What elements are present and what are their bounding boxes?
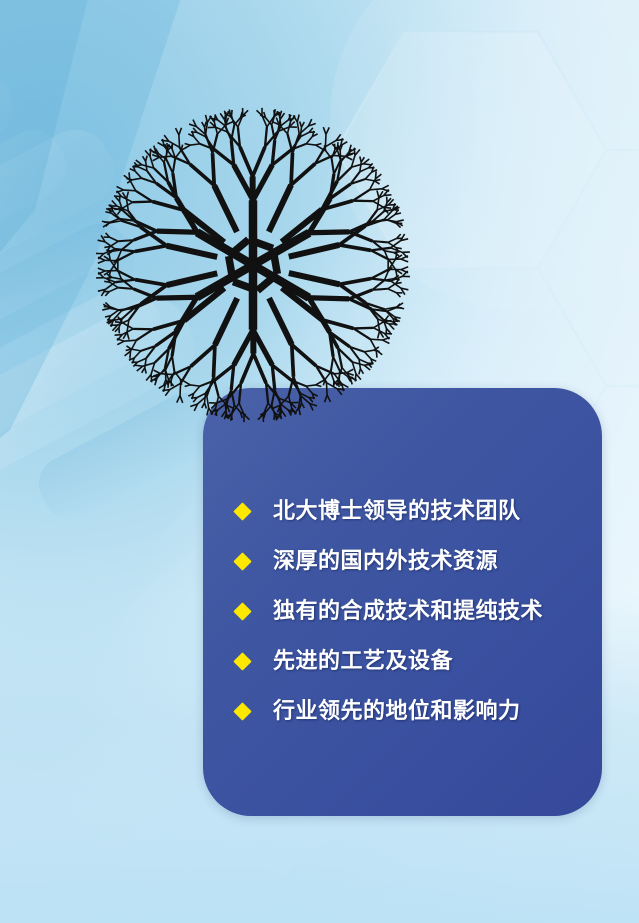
list-item-label: 独有的合成技术和提纯技术 [273, 600, 543, 622]
radial-fractal-tree-icon [0, 0, 639, 923]
slide-canvas: 北大博士领导的技术团队 深厚的国内外技术资源 独有的合成技术和提纯技术 先进的工… [0, 0, 639, 923]
diamond-bullet-icon [233, 552, 251, 570]
list-item-label: 深厚的国内外技术资源 [273, 550, 498, 572]
diamond-bullet-icon [233, 702, 251, 720]
list-item-label: 先进的工艺及设备 [273, 650, 453, 672]
list-item[interactable]: 独有的合成技术和提纯技术 [236, 586, 586, 636]
list-item[interactable]: 深厚的国内外技术资源 [236, 536, 586, 586]
diamond-bullet-icon [233, 652, 251, 670]
feature-bullet-list: 北大博士领导的技术团队 深厚的国内外技术资源 独有的合成技术和提纯技术 先进的工… [236, 486, 586, 736]
diamond-bullet-icon [233, 602, 251, 620]
list-item[interactable]: 先进的工艺及设备 [236, 636, 586, 686]
diamond-bullet-icon [233, 502, 251, 520]
list-item-label: 行业领先的地位和影响力 [273, 700, 521, 722]
list-item-label: 北大博士领导的技术团队 [273, 500, 521, 522]
list-item[interactable]: 北大博士领导的技术团队 [236, 486, 586, 536]
list-item[interactable]: 行业领先的地位和影响力 [236, 686, 586, 736]
